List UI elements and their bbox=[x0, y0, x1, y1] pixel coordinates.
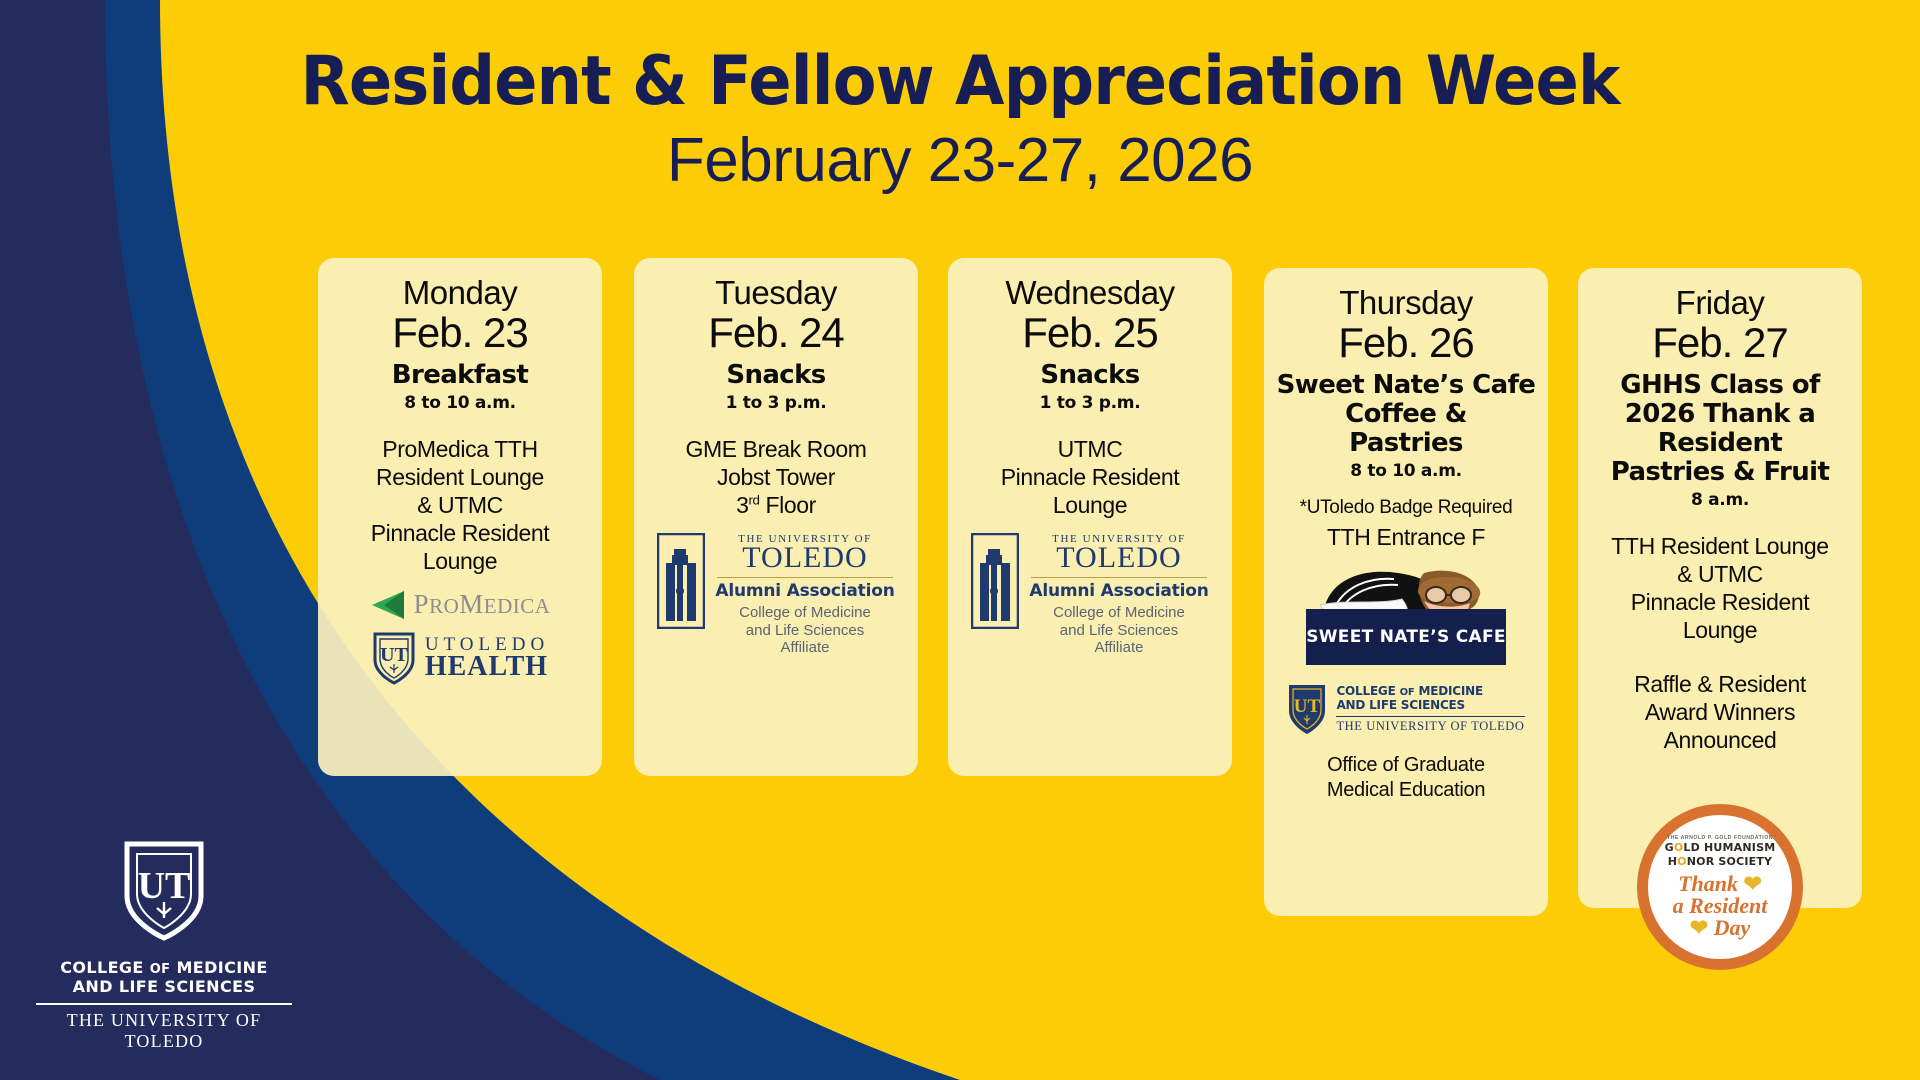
footer-line1: COLLEGE OF MEDICINEAND LIFE SCIENCES bbox=[36, 959, 292, 997]
day-label: Monday bbox=[326, 276, 594, 311]
date-label: Feb. 25 bbox=[956, 309, 1224, 356]
date-label: Feb. 26 bbox=[1272, 319, 1540, 366]
ut-shield-icon: UT bbox=[371, 630, 417, 686]
day-label: Tuesday bbox=[642, 276, 910, 311]
alumni-line2: TOLEDO bbox=[1029, 543, 1208, 573]
utoledo-college-of-medicine-logo: UT COLLEGE OF MEDICINEAND LIFE SCIENCES … bbox=[1272, 681, 1540, 737]
location-label: GME Break RoomJobst Tower3rd Floor bbox=[642, 435, 910, 519]
time-label: 8 to 10 a.m. bbox=[326, 393, 594, 413]
com-line3: THE UNIVERSITY OF TOLEDO bbox=[1336, 719, 1524, 734]
event-label: Snacks bbox=[642, 361, 910, 390]
time-label: 8 a.m. bbox=[1586, 490, 1854, 510]
utoledo-alumni-association-logo: THE UNIVERSITY OF TOLEDO Alumni Associat… bbox=[956, 533, 1224, 657]
ut-shield-icon: UT bbox=[1287, 681, 1327, 737]
ghhs-society-line2: HONOR SOCIETY bbox=[1668, 855, 1772, 869]
svg-text:UT: UT bbox=[138, 865, 191, 907]
event-label: GHHS Class of2026 Thank aResidentPastrie… bbox=[1586, 371, 1854, 487]
time-label: 8 to 10 a.m. bbox=[1272, 461, 1540, 481]
page-subtitle: February 23-27, 2026 bbox=[0, 130, 1920, 192]
svg-text:UT: UT bbox=[380, 644, 408, 666]
ut-shield-icon: UT bbox=[121, 838, 207, 944]
heart-icon: ❤ bbox=[1690, 915, 1708, 940]
com-line1: COLLEGE OF MEDICINEAND LIFE SCIENCES bbox=[1336, 685, 1524, 713]
event-label: Sweet Nate’s CafeCoffee &Pastries bbox=[1272, 371, 1540, 458]
date-label: Feb. 23 bbox=[326, 309, 594, 356]
location-label: ProMedica TTHResident Lounge& UTMCPinnac… bbox=[326, 435, 594, 575]
office-label: Office of GraduateMedical Education bbox=[1272, 753, 1540, 803]
alumni-divider bbox=[717, 577, 892, 578]
time-label: 1 to 3 p.m. bbox=[956, 393, 1224, 413]
location-label: TTH Resident Lounge& UTMCPinnacle Reside… bbox=[1586, 532, 1854, 644]
utoledo-health-line2: HEALTH bbox=[425, 653, 549, 681]
promedica-logo: PROMEDICA bbox=[326, 589, 594, 620]
alumni-line2: TOLEDO bbox=[715, 543, 894, 573]
page-title: Resident & Fellow Appreciation Week bbox=[58, 48, 1863, 116]
alumni-line3: Alumni Association bbox=[1029, 581, 1208, 601]
university-hall-tower-icon bbox=[657, 533, 705, 629]
footer-line3: THE UNIVERSITY OF TOLEDO bbox=[36, 1010, 292, 1052]
day-card-wednesday: Wednesday Feb. 25 Snacks 1 to 3 p.m. UTM… bbox=[948, 258, 1232, 776]
alumni-divider bbox=[1031, 577, 1206, 578]
promedica-wordmark: PROMEDICA bbox=[414, 589, 551, 620]
entrance-note: TTH Entrance F bbox=[1272, 524, 1540, 552]
utoledo-alumni-association-logo: THE UNIVERSITY OF TOLEDO Alumni Associat… bbox=[642, 533, 910, 657]
footer-divider bbox=[36, 1003, 292, 1005]
date-label: Feb. 27 bbox=[1586, 319, 1854, 366]
event-label: Snacks bbox=[956, 361, 1224, 390]
svg-text:UT: UT bbox=[1294, 696, 1321, 717]
day-card-monday: Monday Feb. 23 Breakfast 8 to 10 a.m. Pr… bbox=[318, 258, 602, 776]
day-label: Friday bbox=[1586, 286, 1854, 321]
alumni-line4: College of Medicineand Life SciencesAffi… bbox=[1029, 604, 1208, 657]
ghhs-tagline-line3: ❤ Day bbox=[1673, 917, 1768, 939]
alumni-line4: College of Medicineand Life SciencesAffi… bbox=[715, 604, 894, 657]
alumni-line3: Alumni Association bbox=[715, 581, 894, 601]
utoledo-health-logo: UT UTOLEDO HEALTH bbox=[326, 630, 594, 686]
com-divider bbox=[1336, 716, 1524, 717]
raffle-announcement: Raffle & ResidentAward WinnersAnnounced bbox=[1586, 670, 1854, 754]
location-label: UTMCPinnacle ResidentLounge bbox=[956, 435, 1224, 519]
gold-humanism-honor-society-badge: THE ARNOLD P. GOLD FOUNDATION GOLD HUMAN… bbox=[1637, 804, 1803, 970]
ghhs-tagline-line1: Thank ❤ bbox=[1673, 873, 1768, 895]
ghhs-society-line1: GOLD HUMANISM bbox=[1665, 841, 1776, 855]
utoledo-college-of-medicine-footer-logo: UT COLLEGE OF MEDICINEAND LIFE SCIENCES … bbox=[36, 838, 292, 1052]
badge-required-note: *UToledo Badge Required bbox=[1272, 497, 1540, 520]
date-label: Feb. 24 bbox=[642, 309, 910, 356]
day-label: Thursday bbox=[1272, 286, 1540, 321]
poster-title-block: Resident & Fellow Appreciation Week Febr… bbox=[0, 48, 1920, 192]
promedica-triangle-icon bbox=[370, 590, 406, 620]
sweet-nates-cafe-logo: SWEET NATE’S CAFE bbox=[1306, 565, 1506, 665]
university-hall-tower-icon bbox=[971, 533, 1019, 629]
ghhs-tagline-line2: a Resident bbox=[1673, 895, 1768, 917]
sweet-nates-wordmark: SWEET NATE’S CAFE bbox=[1306, 627, 1506, 647]
heart-icon: ❤ bbox=[1743, 871, 1761, 896]
poster-canvas: Resident & Fellow Appreciation Week Febr… bbox=[0, 0, 1920, 1080]
event-label: Breakfast bbox=[326, 361, 594, 390]
day-card-tuesday: Tuesday Feb. 24 Snacks 1 to 3 p.m. GME B… bbox=[634, 258, 918, 776]
day-label: Wednesday bbox=[956, 276, 1224, 311]
day-card-thursday: Thursday Feb. 26 Sweet Nate’s CafeCoffee… bbox=[1264, 268, 1548, 916]
day-card-friday: Friday Feb. 27 GHHS Class of2026 Thank a… bbox=[1578, 268, 1862, 908]
time-label: 1 to 3 p.m. bbox=[642, 393, 910, 413]
ghhs-tagline: Thank ❤ a Resident ❤ Day bbox=[1673, 873, 1768, 939]
